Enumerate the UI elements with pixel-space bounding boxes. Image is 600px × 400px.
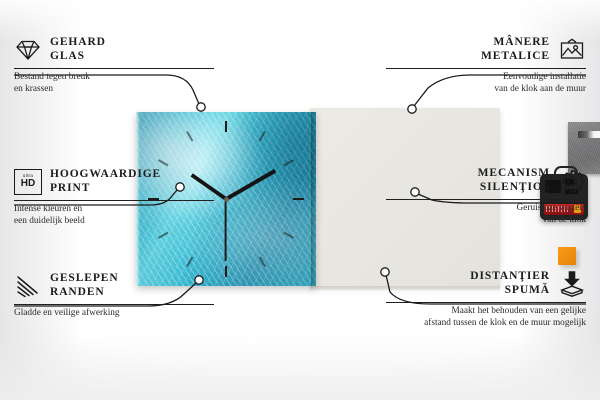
callout-header: GESLEPEN RANDEN [14, 272, 214, 299]
ultra-hd-icon-main-label: HD [21, 179, 35, 189]
callout-description: Bestand tegen breuk en krassen [14, 72, 214, 95]
glass-edge-shadow [311, 112, 316, 286]
callout-hardened-glass[interactable]: GEHARD GLAS Bestand tegen breuk en krass… [14, 36, 214, 95]
callout-description: Intense kleuren en een duidelijk beeld [14, 204, 214, 227]
callout-title: MECANISM SILENŢIOS [478, 167, 550, 194]
hanger-slot [578, 131, 600, 138]
callout-foam-spacer[interactable]: DISTANŢIER SPUMĂ Maakt het behouden van … [386, 270, 586, 329]
callout-title: GEHARD GLAS [50, 36, 106, 63]
callout-rule [386, 68, 586, 69]
callout-rule [14, 304, 214, 305]
infographic-canvas: GEHARD GLAS Bestand tegen breuk en krass… [0, 0, 600, 400]
hour-tick-mark [225, 121, 227, 132]
ultra-hd-icon: ultra HD [14, 169, 42, 195]
hour-tick [226, 198, 304, 200]
callout-header: DISTANŢIER SPUMĂ [386, 270, 586, 297]
second-hand [225, 199, 227, 261]
callout-header: GEHARD GLAS [14, 36, 214, 63]
callout-description: Gladde en veilige afwerking [14, 308, 214, 319]
callout-rule [14, 68, 214, 69]
press-down-foam-icon [558, 271, 586, 297]
callout-rule [14, 200, 214, 201]
callout-description: Geruisloze wijzers van de klok [386, 203, 586, 226]
callout-header: MÂNERE METALICE [386, 36, 586, 63]
callout-title: HOOGWAARDIGE PRINT [50, 168, 161, 195]
callout-ground-edges[interactable]: GESLEPEN RANDEN Gladde en veilige afwerk… [14, 272, 214, 320]
callout-title: GESLEPEN RANDEN [50, 272, 119, 299]
hands-center-cap [224, 197, 229, 202]
callout-header: ultra HD HOOGWAARDIGE PRINT [14, 168, 214, 195]
callout-title: DISTANŢIER SPUMĂ [470, 270, 550, 297]
foam-spacer-sample [558, 247, 576, 265]
diamond-icon [14, 37, 42, 63]
callout-header: MECANISM SILENŢIOS [386, 167, 586, 194]
diagonal-lines-icon [14, 273, 42, 299]
callout-hd-print[interactable]: ultra HD HOOGWAARDIGE PRINT Intense kleu… [14, 168, 214, 227]
callout-silent-mechanism[interactable]: MECANISM SILENŢIOS Geruisloze wijzers va… [386, 167, 586, 226]
picture-frame-hook-icon [558, 37, 586, 63]
callout-metal-handles[interactable]: MÂNERE METALICE Eenvoudige installatie v… [386, 36, 586, 95]
callout-description: Maakt het behouden van een gelijke afsta… [386, 306, 586, 329]
callout-description: Eenvoudige installatie van de klok aan d… [386, 72, 586, 95]
callout-title: MÂNERE METALICE [481, 36, 550, 63]
callout-rule [386, 199, 586, 200]
hour-tick-mark [225, 266, 227, 277]
gear-icon [558, 168, 586, 194]
callout-rule [386, 302, 586, 303]
hour-tick [225, 121, 227, 199]
hour-tick-mark [293, 198, 304, 200]
